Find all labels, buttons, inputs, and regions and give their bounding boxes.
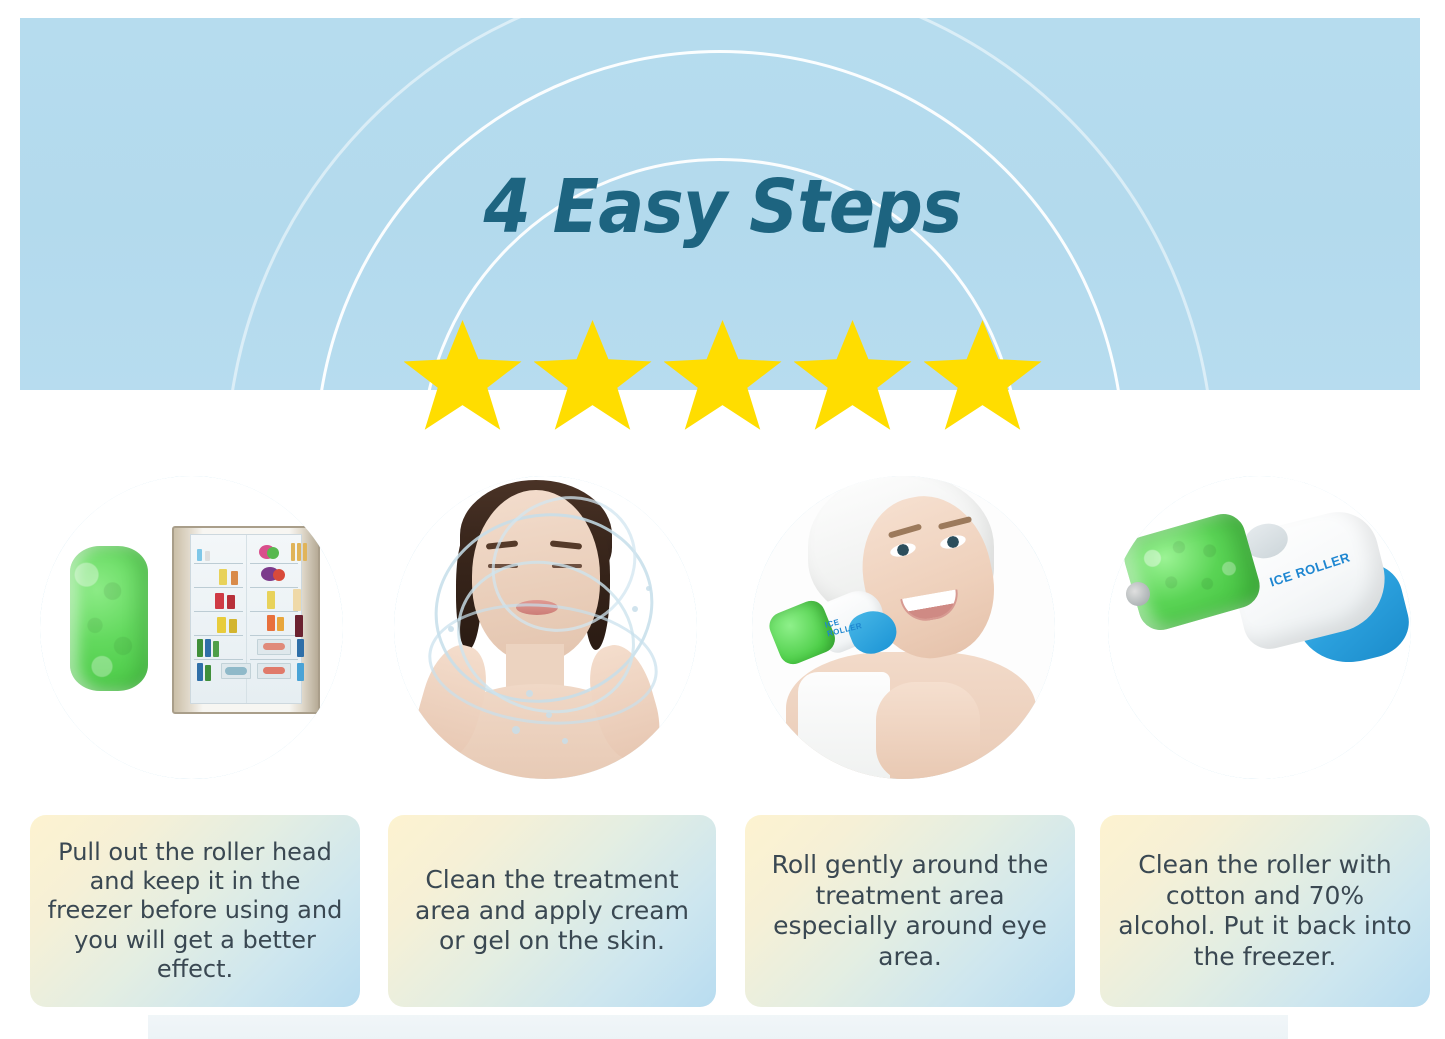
- rolling-treatment-image: ICE ROLLER: [752, 476, 1055, 779]
- step-2-caption-box: Clean the treatment area and apply cream…: [388, 815, 716, 1007]
- step-1-photo-mask: [40, 476, 343, 779]
- step-1-image-circle: [40, 476, 343, 779]
- step-4-caption-box: Clean the roller with cotton and 70% alc…: [1100, 815, 1430, 1007]
- step-4-photo-mask: ICE ROLLER: [1108, 476, 1411, 779]
- refrigerator-icon: [172, 526, 320, 714]
- step-2-caption-text: Clean the treatment area and apply cream…: [402, 865, 702, 957]
- step-3-photo-mask: ICE ROLLER: [752, 476, 1055, 779]
- fridge-right-compartment: [247, 535, 302, 703]
- step-image-row: ICE ROLLER ICE ROLLER: [0, 476, 1445, 796]
- roller-and-refrigerator-image: [40, 476, 343, 779]
- fridge-interior: [190, 534, 302, 704]
- step-3-caption-text: Roll gently around the treatment area es…: [759, 850, 1061, 972]
- footer-strip: [148, 1015, 1288, 1039]
- step-caption-row: Pull out the roller head and keep it in …: [0, 815, 1445, 1007]
- step-3-image-circle: ICE ROLLER: [752, 476, 1055, 779]
- page-title: 4 Easy Steps: [58, 170, 1387, 244]
- face-wash-image: [394, 476, 697, 779]
- roller-head-icon: [70, 546, 148, 691]
- step-2-photo-mask: [394, 476, 697, 779]
- step-2-image-circle: [394, 476, 697, 779]
- step-1-caption-text: Pull out the roller head and keep it in …: [44, 838, 346, 984]
- step-1-caption-box: Pull out the roller head and keep it in …: [30, 815, 360, 1007]
- fridge-left-compartment: [191, 535, 247, 703]
- product-closeup-image: ICE ROLLER: [1108, 476, 1411, 779]
- step-4-image-circle: ICE ROLLER: [1108, 476, 1411, 779]
- step-4-caption-text: Clean the roller with cotton and 70% alc…: [1114, 850, 1416, 972]
- step-3-caption-box: Roll gently around the treatment area es…: [745, 815, 1075, 1007]
- hand-icon: [876, 682, 980, 779]
